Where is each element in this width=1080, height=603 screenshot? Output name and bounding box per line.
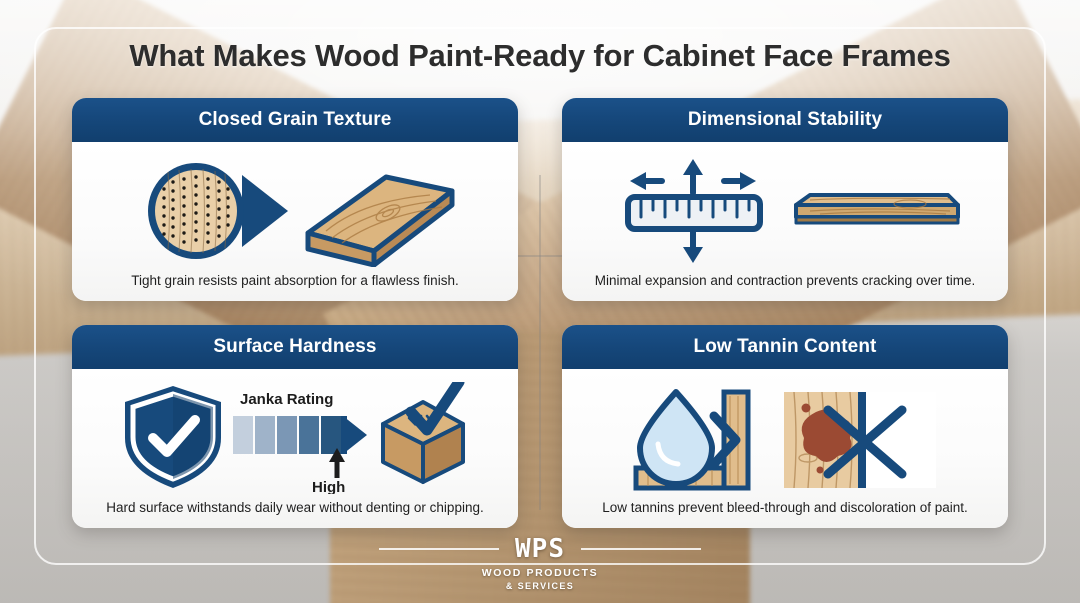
card-dimensional-stability[interactable]: Dimensional Stability <box>562 98 1008 301</box>
logo-divider-left <box>379 548 499 550</box>
stain-blocked-icon <box>784 392 936 488</box>
card-closed-grain-texture[interactable]: Closed Grain Texture <box>72 98 518 301</box>
janka-rating-label: Janka Rating <box>240 391 333 408</box>
magnifier-pointer-icon <box>242 175 288 247</box>
card-header: Closed Grain Texture <box>72 98 518 142</box>
card-low-tannin-content[interactable]: Low Tannin Content <box>562 325 1008 528</box>
wps-logo-mark: WPS <box>515 536 565 562</box>
card-caption: Minimal expansion and contraction preven… <box>595 273 975 289</box>
card-illustration <box>572 377 998 500</box>
card-body: Low tannins prevent bleed-through and di… <box>562 369 1008 528</box>
logo-row: WPS <box>379 536 701 562</box>
card-surface-hardness[interactable]: Surface Hardness Janka Rating <box>72 325 518 528</box>
card-caption: Tight grain resists paint absorption for… <box>131 273 458 289</box>
card-caption: Hard surface withstands daily wear witho… <box>106 500 483 516</box>
card-illustration: Janka Rating High <box>82 377 508 500</box>
card-illustration <box>82 150 508 273</box>
card-header: Surface Hardness <box>72 325 518 369</box>
wood-block-dent-icon <box>383 382 463 482</box>
dimensional-stability-illustration <box>610 155 960 267</box>
flat-board-icon <box>796 195 958 223</box>
low-tannin-illustration <box>620 382 950 494</box>
card-caption: Low tannins prevent bleed-through and di… <box>602 500 968 516</box>
feature-card-grid: Closed Grain Texture <box>72 98 1008 528</box>
water-droplet-icon <box>640 392 712 484</box>
card-body: Janka Rating High <box>72 369 518 528</box>
card-header: Dimensional Stability <box>562 98 1008 142</box>
shield-check-icon <box>125 386 221 488</box>
janka-gauge-icon <box>233 416 367 454</box>
card-body: Tight grain resists paint absorption for… <box>72 142 518 301</box>
logo-divider-right <box>581 548 701 550</box>
footer-logo: WPS WOOD PRODUCTS & SERVICES <box>0 536 1080 591</box>
card-header: Low Tannin Content <box>562 325 1008 369</box>
logo-subtitle-line2: & SERVICES <box>506 581 574 591</box>
wood-plank-icon <box>308 177 452 265</box>
janka-high-label: High <box>312 479 345 494</box>
closed-grain-illustration <box>130 155 460 267</box>
card-illustration <box>572 150 998 273</box>
ruler-icon <box>628 197 760 229</box>
surface-hardness-illustration: Janka Rating High <box>115 382 475 494</box>
card-body: Minimal expansion and contraction preven… <box>562 142 1008 301</box>
logo-subtitle-line1: WOOD PRODUCTS <box>482 567 598 579</box>
page-title: What Makes Wood Paint-Ready for Cabinet … <box>0 38 1080 74</box>
